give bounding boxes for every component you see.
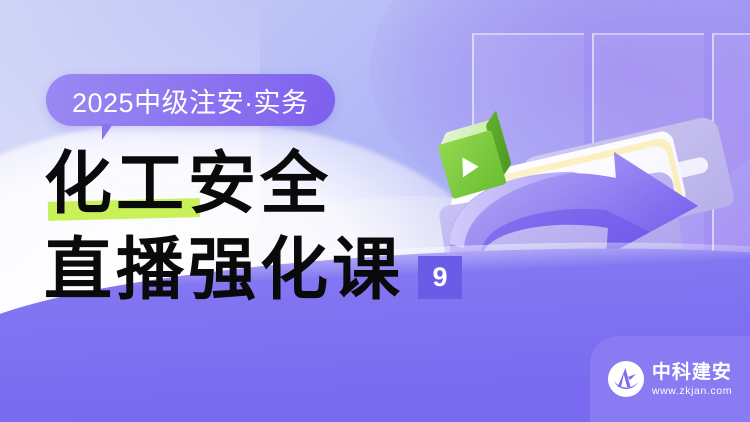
headline-text-1: 化工安全 bbox=[44, 146, 332, 222]
headline-text-2: 直播强化课 bbox=[44, 232, 404, 308]
course-badge: 2025中级注安·实务 bbox=[46, 74, 335, 126]
course-badge-tail bbox=[102, 124, 124, 140]
brand-name: 中科建安 bbox=[652, 362, 732, 383]
headline-line-2: 直播强化课 9 bbox=[44, 232, 462, 308]
course-badge-label: 2025中级注安·实务 bbox=[46, 74, 335, 126]
brand-url: www.zkjan.com bbox=[652, 385, 732, 397]
course-promo-banner: 2025中级注安·实务 化工安全 直播强化课 9 中科建安 www.zkjan.… bbox=[0, 0, 750, 422]
brand-emblem-icon bbox=[608, 361, 644, 397]
headline-line-1: 化工安全 bbox=[44, 146, 462, 222]
brand-text-group: 中科建安 www.zkjan.com bbox=[652, 362, 732, 397]
episode-number-badge: 9 bbox=[418, 256, 462, 299]
brand-logo: 中科建安 www.zkjan.com bbox=[590, 336, 750, 422]
headline: 化工安全 直播强化课 9 bbox=[44, 146, 462, 308]
mountain-swoosh-icon bbox=[610, 363, 642, 395]
play-triangle-icon bbox=[462, 157, 479, 178]
